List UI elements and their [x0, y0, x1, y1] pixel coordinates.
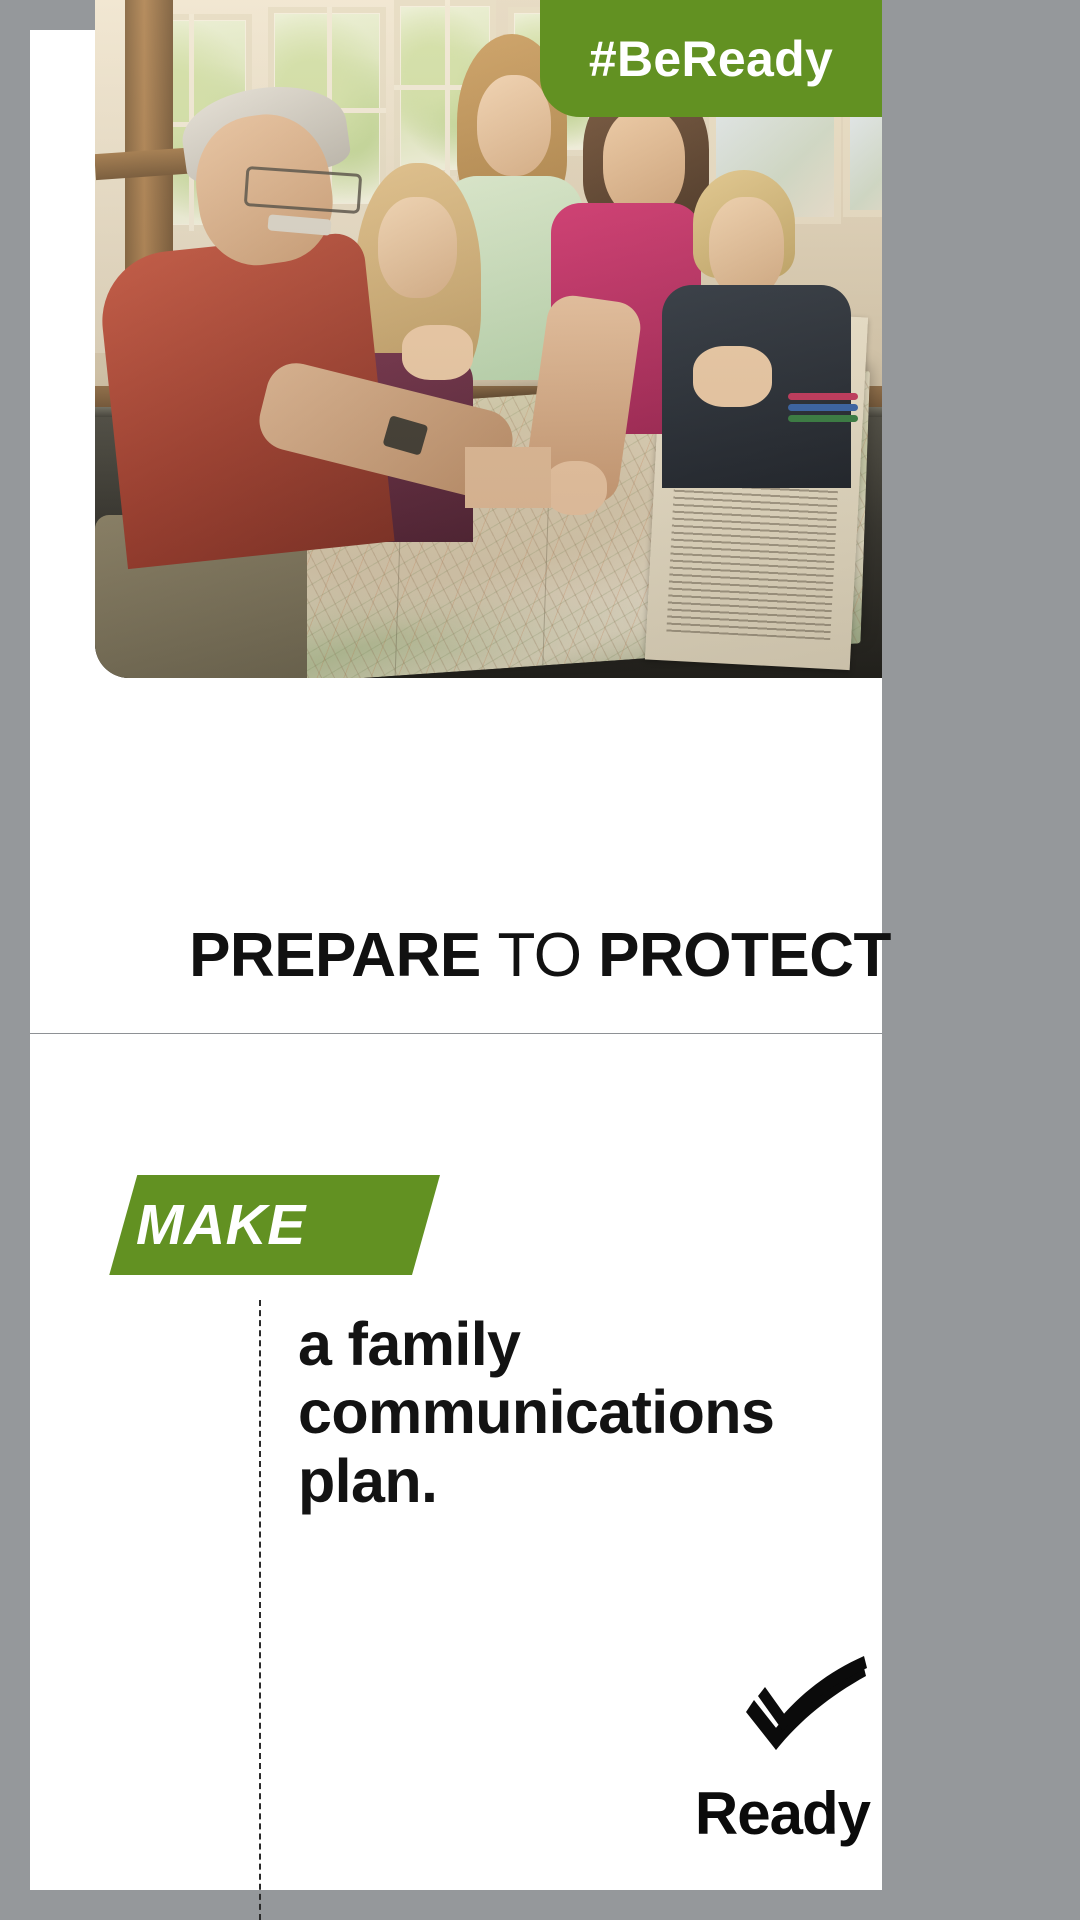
person-boy-hands: [693, 346, 772, 407]
title-divider: [30, 1033, 882, 1034]
person-mother-hand: [544, 461, 607, 515]
make-tag-label: MAKE: [90, 1175, 440, 1275]
dashed-divider: [259, 1300, 261, 1920]
title-part-to: TO: [497, 921, 581, 990]
ready-checkmark-icon: [738, 1650, 870, 1760]
markers: [788, 393, 859, 420]
person-grandfather-hand: [465, 447, 552, 508]
hashtag-label: #BeReady: [589, 30, 833, 88]
callout-body: a family communications plan.: [298, 1310, 818, 1515]
person-girl-head: [378, 197, 457, 299]
person-mother-head: [603, 108, 686, 216]
title-part-prepare: PREPARE: [189, 921, 481, 990]
make-tag: MAKE: [90, 1175, 440, 1275]
title-part-protect: PROTECT: [598, 921, 891, 990]
ready-logo: Ready: [620, 1650, 870, 1850]
hashtag-banner: #BeReady: [540, 0, 882, 117]
ready-wordmark: Ready: [620, 1779, 870, 1848]
eyeglasses: [243, 165, 362, 213]
person-teen-girl-head: [477, 75, 552, 177]
page-title: PREPARE TO PROTECT: [0, 925, 1080, 987]
person-boy-head: [709, 197, 784, 299]
wall-art-far-right: [843, 108, 882, 217]
person-girl-hands: [402, 325, 473, 379]
poster-root: #BeReady PREPARE TO PROTECT MAKE a famil…: [0, 0, 1080, 1920]
